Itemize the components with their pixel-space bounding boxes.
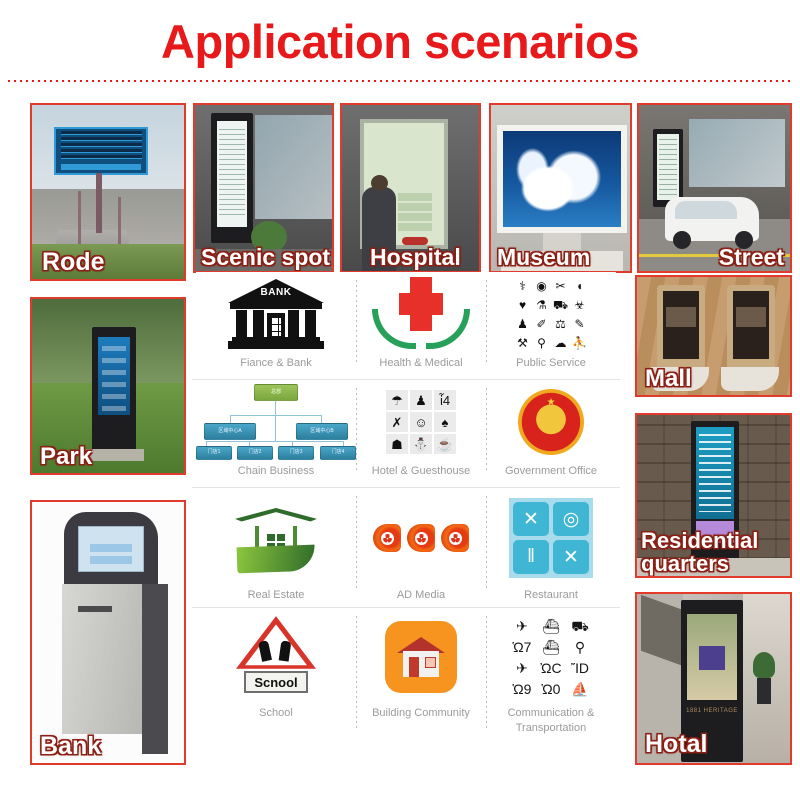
grid-cell-label: Real Estate (248, 588, 305, 603)
grid-cell-ad-media[interactable]: AD Media (356, 488, 486, 608)
photo-panel-bank[interactable]: Bank (30, 500, 186, 765)
photo-caption: Museum (497, 246, 590, 269)
public-service-icon-10: ✐ (533, 315, 550, 332)
photo-caption: Park (40, 445, 92, 469)
public-service-icon-14: ⚲ (533, 334, 550, 351)
photo-caption: Mall (645, 367, 692, 391)
grid-cell-label: Hotel & Guesthouse (372, 464, 470, 479)
grid-cell-public-service[interactable]: ⚕◉✂◖♥⚗⛟☣♟✐⚖✎⚒⚲☁⛹ Public Service (486, 272, 616, 380)
org-node-store-2: 门店2 (237, 446, 273, 460)
photo-panel-street[interactable]: Street (637, 103, 792, 273)
cutlery-icon-1: ✕ (513, 502, 549, 536)
lamp-post-2 (118, 197, 121, 247)
org-node-store-4: 门店4 (320, 446, 356, 460)
grid-cell-restaurant[interactable]: ✕◎‖✕ Restaurant (486, 488, 616, 608)
hotel-icon-4: ✗ (386, 412, 408, 432)
museum-screen-content (503, 131, 621, 227)
public-service-icon-8: ☣ (571, 296, 588, 313)
photo-panel-hotal[interactable]: 1881 HERITAGE Hotal (635, 592, 792, 765)
shop-window (255, 115, 333, 219)
org-node-region-b: 区域中心B (296, 423, 348, 440)
grid-cell-label: Public Service (516, 356, 586, 371)
public-service-icon-9: ♟ (514, 315, 531, 332)
hotel-icon-grid: ☂♟ἷ4✗☺♠☗⛄☕ (386, 384, 456, 460)
scenario-icon-grid: BANK Fiance & Bank Health & Me (196, 272, 616, 790)
grid-cell-label: School (259, 706, 293, 721)
school-sign-text: Scnool (254, 675, 297, 690)
org-node-region-a: 区域中心A (204, 423, 256, 440)
hotel-brand-text: 1881 HERITAGE (685, 708, 739, 714)
hotel-icon-5: ☺ (410, 412, 432, 432)
photo-panel-hospital[interactable]: Hospital (340, 103, 481, 273)
public-service-icon-4: ◖ (571, 277, 588, 294)
transport-icon-6: ⚲ (567, 638, 593, 656)
grid-cell-label: Government Office (505, 464, 597, 479)
org-node-store-3: 门店3 (278, 446, 314, 460)
photo-panel-rode[interactable]: Rode (30, 103, 186, 281)
photo-panel-park[interactable]: Park (30, 297, 186, 475)
school-crossing-sign-icon: Scnool (236, 612, 316, 702)
photo-caption: Scenic spot (201, 246, 330, 269)
transport-icon-7: ✈ (509, 659, 535, 677)
public-service-icon-11: ⚖ (552, 315, 569, 332)
transport-icon-8: ὨC (538, 659, 564, 677)
public-service-icon-16: ⛹ (571, 334, 588, 351)
public-service-icon-2: ◉ (533, 277, 550, 294)
grid-cell-hotel-guesthouse[interactable]: ☂♟ἷ4✗☺♠☗⛄☕ Hotel & Guesthouse (356, 380, 486, 488)
public-service-icon-13: ⚒ (514, 334, 531, 351)
green-house-leaf-icon (233, 492, 319, 584)
org-chart-icon: 总部 区域中心A 区域中心B 门店1 门店2 门店3 门店4 (196, 384, 356, 460)
park-kiosk (92, 327, 136, 455)
transport-icon-1: ✈ (509, 617, 535, 635)
emblem-star: ★ (547, 397, 556, 408)
hotel-icon-9: ☕ (434, 434, 456, 454)
photo-panel-mall[interactable]: Mall (635, 275, 792, 397)
public-service-icon-12: ✎ (571, 315, 588, 332)
photo-caption: Residential quarters (641, 530, 758, 575)
transport-icon-grid: ✈⛴⛟Ὡ7⛴⚲✈ὨCἼDὩ9Ὡ0⛵ (509, 612, 593, 702)
hotel-icon-7: ☗ (386, 434, 408, 454)
grid-cell-chain-business[interactable]: 总部 区域中心A 区域中心B 门店1 门店2 门店3 门店4 (196, 380, 356, 488)
poster-root: Application scenarios Rode Scenic spot (0, 0, 800, 800)
billboard-pole (96, 173, 102, 233)
grid-cell-health-medical[interactable]: Health & Medical (356, 272, 486, 380)
grid-cell-label: Fiance & Bank (240, 356, 312, 371)
hotel-icon-1: ☂ (386, 390, 408, 410)
photo-panel-residential-quarters[interactable]: Residential quarters (635, 413, 792, 578)
cutlery-icon-4: ✕ (553, 540, 589, 574)
transport-icon-11: Ὡ0 (538, 680, 564, 698)
grid-cell-school[interactable]: Scnool School (196, 608, 356, 748)
hotel-icon-3: ἷ4 (434, 390, 456, 410)
led-billboard (54, 127, 148, 175)
photo-caption: Bank (40, 734, 101, 760)
bank-building-icon: BANK (228, 276, 324, 352)
public-service-icon-1: ⚕ (514, 277, 531, 294)
kiosk-screen (687, 614, 737, 700)
film-reel-d-logo-icon (373, 492, 469, 584)
red-cross-laurel-icon (366, 276, 476, 352)
public-service-icon-grid: ⚕◉✂◖♥⚗⛟☣♟✐⚖✎⚒⚲☁⛹ (514, 276, 588, 352)
grid-cell-label: AD Media (397, 588, 445, 603)
transport-icon-5: ⛴ (538, 638, 564, 656)
public-service-icon-3: ✂ (552, 277, 569, 294)
public-service-icon-7: ⛟ (552, 296, 569, 313)
page-title: Application scenarios (0, 14, 800, 69)
cutlery-icon-grid: ✕◎‖✕ (509, 492, 593, 584)
kiosk-screen (217, 121, 247, 227)
grid-cell-label: Building Community (372, 706, 470, 721)
photo-caption: Rode (42, 250, 105, 276)
photo-caption: Street (719, 246, 784, 269)
title-divider (8, 80, 792, 82)
shopfront-glass (689, 119, 785, 187)
public-service-icon-15: ☁ (552, 334, 569, 351)
org-node-store-1: 门店1 (196, 446, 232, 460)
grid-cell-label: Health & Medical (379, 356, 462, 371)
grid-cell-label: Communication & Transportation (508, 706, 595, 736)
orange-house-icon (385, 612, 457, 702)
cutlery-icon-2: ◎ (553, 502, 589, 536)
transport-icon-9: ἼD (567, 659, 593, 677)
grid-cell-fiance-bank[interactable]: BANK Fiance & Bank (196, 272, 356, 380)
grid-cell-label: Chain Business (238, 464, 314, 479)
org-node-hq: 总部 (254, 384, 298, 401)
grid-cell-building-community[interactable]: Building Community (356, 608, 486, 748)
photo-panel-museum[interactable]: Museum (489, 103, 632, 273)
hotel-icon-8: ⛄ (410, 434, 432, 454)
kiosk-screen (98, 337, 130, 415)
kiosk-screen (696, 427, 734, 519)
photo-caption: Hospital (370, 246, 461, 269)
grid-cell-real-estate[interactable]: Real Estate (196, 488, 356, 608)
public-service-icon-5: ♥ (514, 296, 531, 313)
street-kiosk (653, 129, 683, 207)
transport-icon-4: Ὡ7 (509, 638, 535, 656)
hotel-icon-6: ♠ (434, 412, 456, 432)
photo-panel-scenic-spot[interactable]: Scenic spot (193, 103, 334, 273)
hotel-icon-2: ♟ (410, 390, 432, 410)
transport-icon-3: ⛟ (567, 617, 593, 635)
grid-cell-government-office[interactable]: ★ Government Office (486, 380, 616, 488)
photo-caption: Hotal (645, 732, 708, 758)
national-emblem-icon: ★ (518, 384, 584, 460)
transport-icon-10: Ὡ9 (509, 680, 535, 698)
grid-cell-communication-transportation[interactable]: ✈⛴⛟Ὡ7⛴⚲✈ὨCἼDὩ9Ὡ0⛵ Communication & Transp… (486, 608, 616, 748)
grid-cell-label: Restaurant (524, 588, 578, 603)
lamp-post-1 (78, 191, 81, 247)
public-service-icon-6: ⚗ (533, 296, 550, 313)
transport-icon-2: ⛴ (538, 617, 564, 635)
transport-icon-12: ⛵ (567, 680, 593, 698)
digital-kiosk (211, 113, 253, 243)
bank-icon-text: BANK (228, 287, 324, 298)
cutlery-icon-3: ‖ (513, 540, 549, 574)
